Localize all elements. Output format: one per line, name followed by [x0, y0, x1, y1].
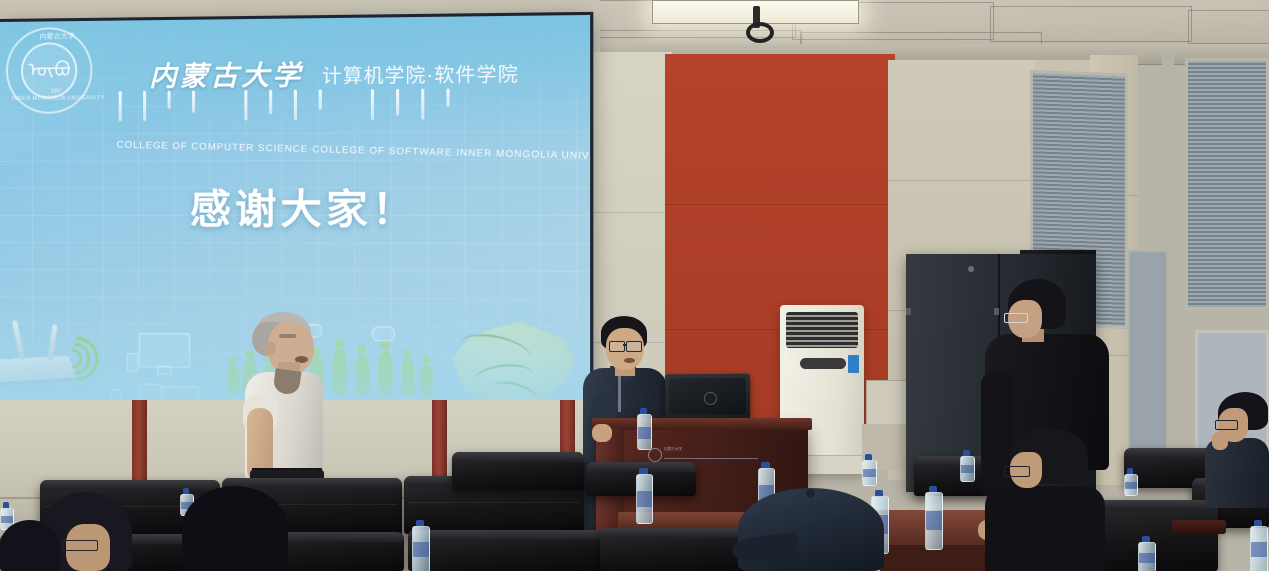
cabinet-hinge-icon	[906, 308, 911, 315]
speaker-shirt-placket	[618, 372, 621, 412]
cap-button-icon	[806, 489, 815, 498]
water-bottle[interactable]	[412, 520, 428, 571]
slide-mongolian-script-row	[119, 88, 556, 128]
lectern-university-emblem-icon	[648, 448, 662, 462]
water-bottle[interactable]	[1124, 468, 1136, 494]
speaker-mouth	[624, 358, 635, 363]
water-bottle[interactable]	[1138, 536, 1154, 571]
standing-student-glasses-icon	[1004, 313, 1028, 323]
seated-attendee-far-right-glasses-icon	[1215, 420, 1238, 430]
water-bottle[interactable]	[637, 408, 650, 448]
speaker-hand	[592, 424, 612, 442]
university-seal-icon: ᠦᠪᠦᠷ ᠮᠣᠩᠭᠣᠯ ᠤᠨ ᠶᠡᠬᠡ ᠰᠤᠷᠭᠠᠭᠤᠯᠢ 内蒙古大学 1957…	[6, 27, 92, 114]
glass-door-panel	[1128, 250, 1168, 480]
water-bottle[interactable]	[636, 468, 651, 522]
water-bottle[interactable]	[862, 454, 875, 484]
presenter-ear	[266, 342, 276, 355]
seated-student-glasses-icon	[1004, 466, 1030, 477]
slide-university-name-cn: 内蒙古大学	[149, 53, 303, 94]
ac-control-panel[interactable]	[800, 358, 846, 369]
ac-energy-label	[848, 355, 859, 373]
seated-attendee-far-right-hand	[1212, 432, 1228, 450]
seal-top-label: 内蒙古大学	[22, 31, 92, 42]
speaker-glasses-icon	[609, 341, 625, 352]
foreground-attendee-head-far-left	[0, 520, 60, 571]
seated-student-torso	[985, 486, 1105, 571]
water-bottle[interactable]	[1250, 520, 1266, 571]
cabinet-hinge-icon	[994, 308, 999, 315]
presenter-eye	[279, 334, 296, 338]
seal-bottom-label: INNER MONGOLIA UNIVERSITY	[10, 95, 107, 102]
lectern-monitor[interactable]	[665, 374, 750, 425]
water-bottle[interactable]	[925, 486, 941, 548]
slide-main-message: 感谢大家！	[190, 176, 418, 236]
lectern-engraved-text: 内蒙古大学	[664, 447, 718, 452]
seal-year-label: 1957	[36, 88, 76, 94]
seal-mongolian-glyph: ᠦᠪᠦᠷ ᠮᠣᠩᠭᠣᠯ ᠤᠨ ᠶᠡᠬᠡ ᠰᠤᠷᠭᠠᠭᠤᠯᠢ	[28, 50, 70, 90]
water-bottle[interactable]	[960, 450, 973, 480]
conference-seat[interactable]	[408, 530, 608, 571]
wall-pillar-maroon	[560, 400, 575, 458]
monitor-brand-logo-icon	[704, 392, 717, 405]
lectern-top-edge	[592, 418, 812, 430]
speaker-glasses-bridge	[623, 344, 627, 346]
window-with-blinds-right	[1185, 58, 1269, 310]
speaker-glasses-icon	[626, 341, 642, 352]
seat-armrest	[1172, 520, 1226, 534]
projector-cable-loop-icon	[746, 22, 774, 43]
slide-college-name-cn: 计算机学院·软件学院	[322, 59, 519, 88]
conference-seat[interactable]	[1098, 500, 1218, 571]
water-bottle[interactable]	[0, 502, 12, 528]
ac-vent-grille	[786, 312, 858, 348]
cabinet-lock-icon[interactable]	[968, 266, 974, 272]
conference-room-photo: ᠦᠪᠦᠷ ᠮᠣᠩᠭᠣᠯ ᠤᠨ ᠶᠡᠬᠡ ᠰᠤᠷᠭᠠᠭᠤᠯᠢ 内蒙古大学 1957…	[0, 0, 1269, 571]
standing-student-arm	[981, 372, 1013, 498]
conference-seat[interactable]	[452, 452, 584, 490]
foreground-attendee-head-mid	[182, 486, 288, 571]
lectern-engraved-rule	[664, 458, 758, 459]
foreground-attendee-glasses-icon	[62, 540, 98, 551]
